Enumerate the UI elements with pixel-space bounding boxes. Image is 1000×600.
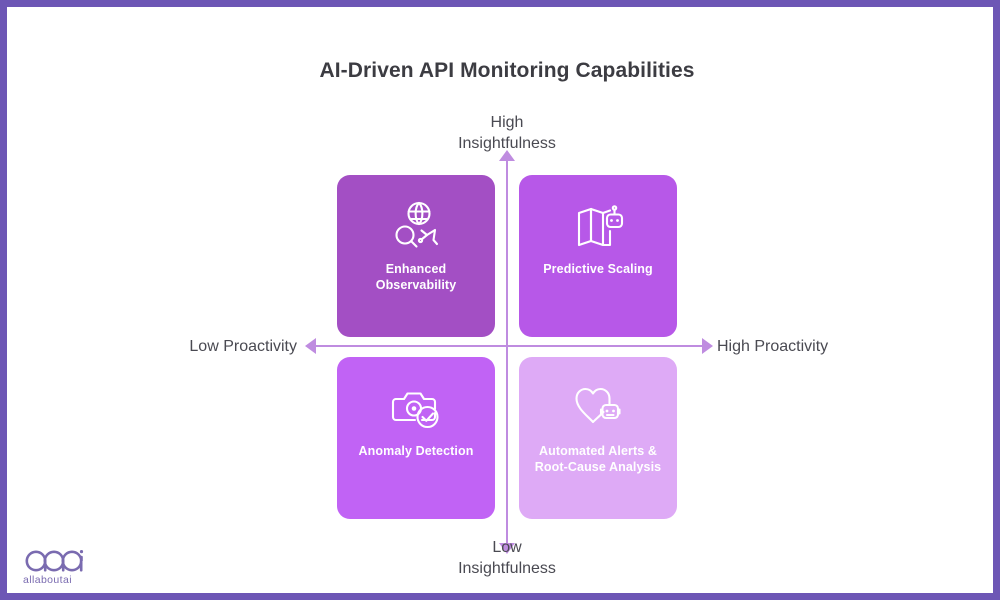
brand-wordmark: allaboutai: [23, 574, 95, 586]
vertical-axis-line: [506, 157, 508, 545]
arrow-right-icon: [702, 338, 713, 354]
quadrant-card-anomaly-detection[interactable]: Anomaly Detection: [337, 357, 495, 519]
map-robot-icon: [571, 197, 625, 255]
infographic-canvas: AI-Driven API Monitoring Capabilities Hi…: [0, 0, 1000, 600]
quadrant-card-label: Automated Alerts & Root-Cause Analysis: [528, 443, 668, 475]
axis-label-low-insightfulness: Low Insightfulness: [387, 537, 627, 579]
quadrant-card-label: Anomaly Detection: [346, 443, 486, 459]
arrow-left-icon: [305, 338, 316, 354]
horizontal-axis-line: [313, 345, 703, 347]
aaai-logo-icon: [23, 547, 95, 573]
brand-logo[interactable]: allaboutai: [23, 547, 95, 586]
quadrant-card-automated-alerts-root-cause-analysis[interactable]: Automated Alerts & Root-Cause Analysis: [519, 357, 677, 519]
heart-robot-icon: [571, 379, 625, 437]
quadrant-card-label: Enhanced Observability: [346, 261, 486, 293]
quadrant-card-enhanced-observability[interactable]: Enhanced Observability: [337, 175, 495, 337]
axis-label-high-insightfulness: High Insightfulness: [387, 112, 627, 154]
axis-label-low-proactivity: Low Proactivity: [127, 336, 297, 357]
quadrant-card-label: Predictive Scaling: [528, 261, 668, 277]
axis-label-high-proactivity: High Proactivity: [717, 336, 917, 357]
quadrant-card-predictive-scaling[interactable]: Predictive Scaling: [519, 175, 677, 337]
observability-globe-magnifier-icon: [389, 197, 443, 255]
page-title: AI-Driven API Monitoring Capabilities: [7, 59, 1000, 83]
camera-check-icon: [389, 379, 443, 437]
